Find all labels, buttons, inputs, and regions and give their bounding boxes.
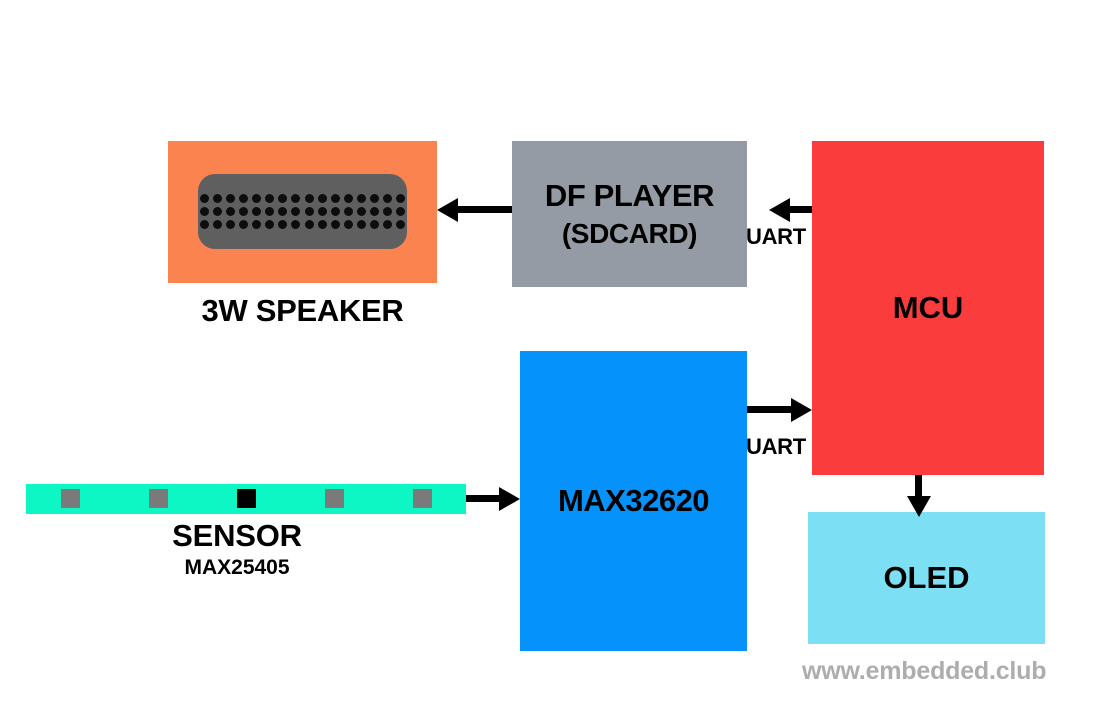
speaker-grille-dot	[226, 194, 235, 203]
arrow-max32620-to-mcu-line	[747, 406, 791, 413]
speaker-grille-dot	[291, 194, 300, 203]
speaker-grille-dot	[344, 207, 353, 216]
speaker-grille-dot	[239, 207, 248, 216]
speaker-grille-dot	[331, 207, 340, 216]
speaker-grille-dot	[396, 194, 405, 203]
mcu-block[interactable]: MCU	[812, 141, 1044, 475]
speaker-grille-dot	[357, 220, 366, 229]
arrow-mcu-to-oled-head	[907, 496, 931, 517]
speaker-grille-dot	[278, 220, 287, 229]
speaker-grille-dot	[383, 194, 392, 203]
speaker-grille-dot	[318, 194, 327, 203]
speaker-grille-dot	[370, 194, 379, 203]
speaker-grille-dot	[213, 194, 222, 203]
arrow-mcu-to-dfplayer-line	[790, 206, 812, 213]
sensor-title: SENSOR	[62, 518, 412, 554]
speaker-grille-dot	[265, 194, 274, 203]
sensor-strip[interactable]	[26, 484, 466, 514]
speaker-grille-dot	[357, 194, 366, 203]
mcu-label: MCU	[893, 290, 964, 326]
speaker-grille-dot	[200, 207, 209, 216]
speaker-grille-dot	[265, 220, 274, 229]
sensor-pad	[61, 489, 80, 508]
speaker-grille-dot	[226, 207, 235, 216]
arrow-sensor-to-max32620-head	[499, 487, 520, 511]
speaker-grille-dot	[291, 207, 300, 216]
max32620-block[interactable]: MAX32620	[520, 351, 747, 651]
dfplayer-title: DF PLAYER	[545, 178, 714, 214]
watermark: www.embedded.club	[802, 657, 1046, 686]
speaker-grille-dot	[344, 220, 353, 229]
speaker-grille-dot	[344, 194, 353, 203]
speaker-grille-dot	[239, 220, 248, 229]
speaker-grille-dot	[200, 194, 209, 203]
speaker-grille-dot	[239, 194, 248, 203]
speaker-grille-dot	[396, 207, 405, 216]
speaker-grille-dot	[252, 207, 261, 216]
uart-label-bottom: UART	[746, 434, 806, 460]
speaker-grille-dot	[357, 207, 366, 216]
arrow-sensor-to-max32620-line	[466, 495, 499, 502]
speaker-grille-dot	[252, 220, 261, 229]
oled-label: OLED	[883, 560, 969, 596]
speaker-grille-dot	[318, 220, 327, 229]
speaker-grille-row	[200, 207, 405, 216]
speaker-block[interactable]	[168, 141, 437, 283]
speaker-grille-dot	[331, 220, 340, 229]
sensor-pad	[413, 489, 432, 508]
speaker-grille-icon	[198, 174, 407, 249]
uart-label-top: UART	[746, 224, 806, 250]
max32620-label: MAX32620	[558, 483, 709, 519]
speaker-grille-dot	[278, 207, 287, 216]
arrow-mcu-to-dfplayer-head	[769, 198, 790, 222]
speaker-grille-dot	[331, 194, 340, 203]
oled-block[interactable]: OLED	[808, 512, 1045, 644]
dfplayer-subtitle: (SDCARD)	[562, 218, 697, 250]
speaker-grille-dot	[226, 220, 235, 229]
sensor-part-number: MAX25405	[62, 556, 412, 580]
speaker-grille-dot	[305, 194, 314, 203]
speaker-grille-dot	[370, 220, 379, 229]
sensor-pad-active	[237, 489, 256, 508]
speaker-grille-dot	[318, 207, 327, 216]
sensor-pad	[325, 489, 344, 508]
speaker-grille-dot	[213, 220, 222, 229]
speaker-caption: 3W SPEAKER	[168, 293, 437, 329]
speaker-grille-dot	[383, 207, 392, 216]
speaker-grille-dot	[265, 207, 274, 216]
arrow-max32620-to-mcu-head	[791, 398, 812, 422]
speaker-grille-dot	[305, 207, 314, 216]
speaker-grille-dot	[200, 220, 209, 229]
speaker-grille-dot	[383, 220, 392, 229]
sensor-caption: SENSOR MAX25405	[62, 518, 412, 580]
arrow-dfplayer-to-speaker-line	[458, 206, 512, 213]
speaker-grille-dot	[305, 220, 314, 229]
dfplayer-block[interactable]: DF PLAYER (SDCARD)	[512, 141, 747, 287]
sensor-pad	[149, 489, 168, 508]
speaker-grille-row	[200, 194, 405, 203]
speaker-grille-row	[200, 220, 405, 229]
speaker-grille-dot	[291, 220, 300, 229]
speaker-grille-dot	[278, 194, 287, 203]
speaker-grille-dot	[213, 207, 222, 216]
arrow-dfplayer-to-speaker-head	[437, 198, 458, 222]
speaker-grille-dot	[396, 220, 405, 229]
diagram-canvas: 3W SPEAKER DF PLAYER (SDCARD) MCU OLED M…	[0, 0, 1093, 719]
speaker-grille-dot	[252, 194, 261, 203]
speaker-grille-dot	[370, 207, 379, 216]
